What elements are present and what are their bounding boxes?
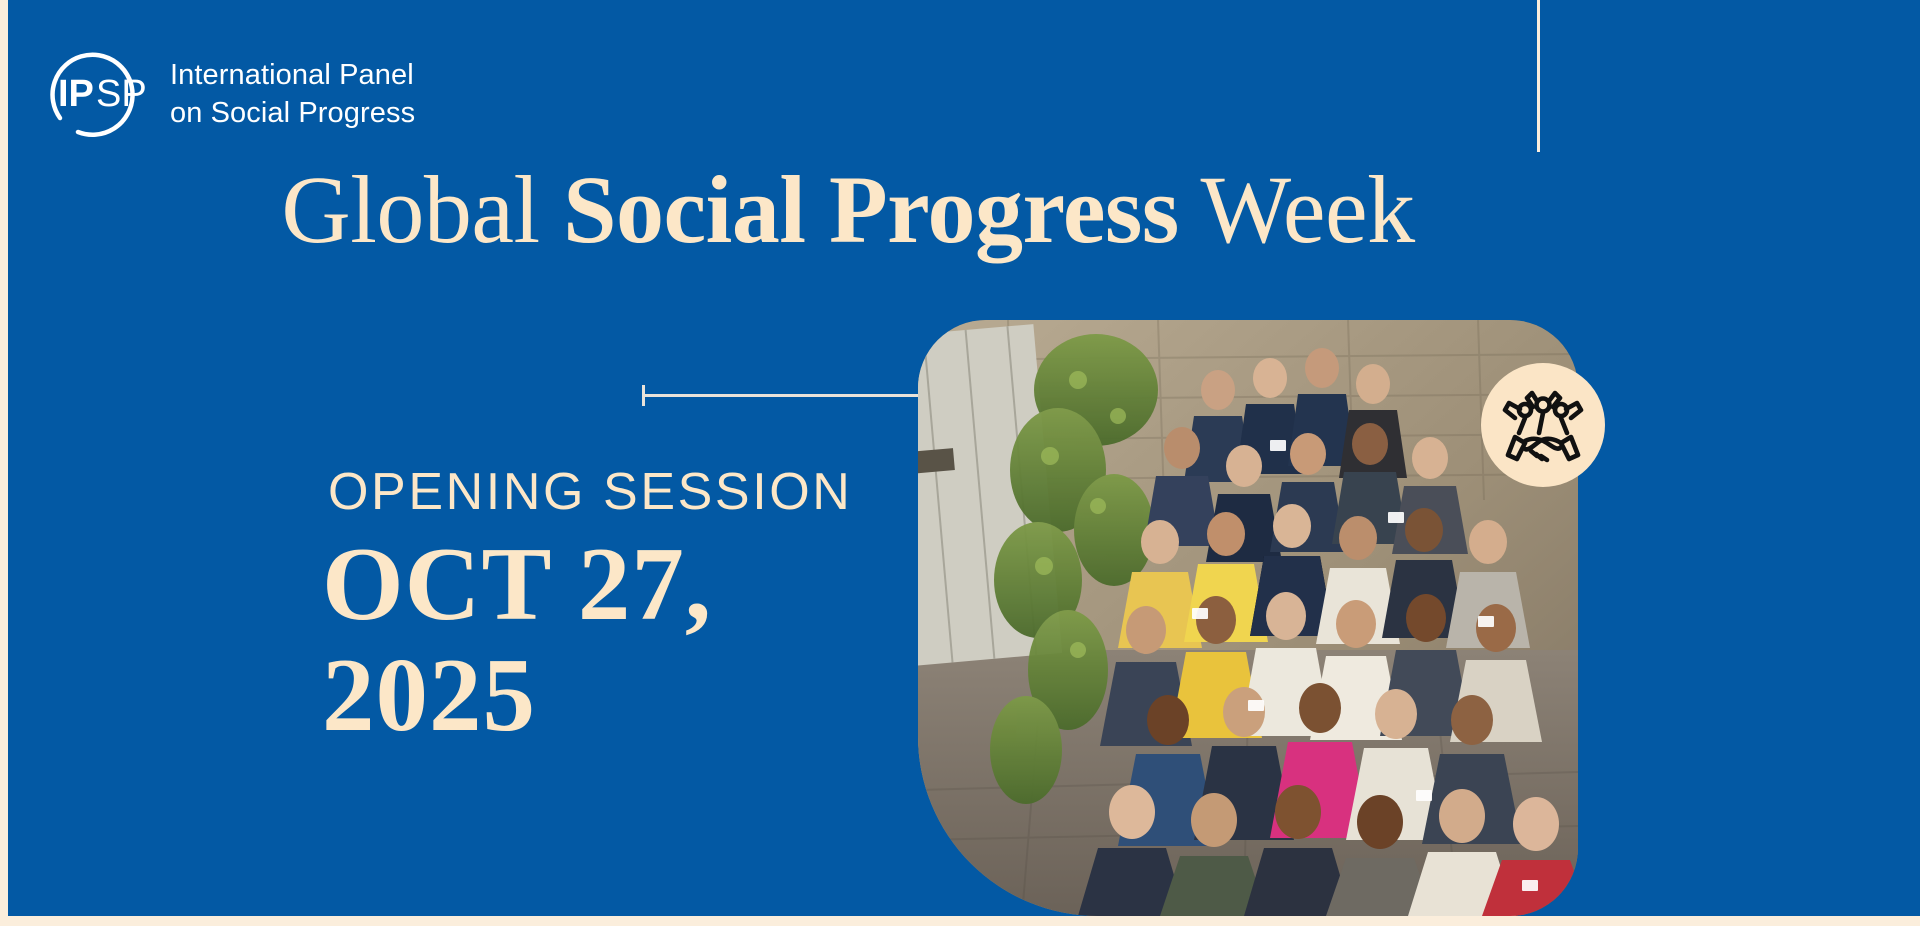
handshake-people-icon bbox=[1481, 363, 1605, 487]
event-date-line-1: OCT 27, bbox=[322, 528, 882, 639]
svg-text:IP: IP bbox=[58, 73, 94, 115]
ipsp-logo-lockup[interactable]: IP SP International Panel on Social Prog… bbox=[44, 42, 415, 146]
event-date: OCT 27, 2025 bbox=[322, 528, 882, 751]
organization-name: International Panel on Social Progress bbox=[170, 56, 415, 133]
title-part-2: Social Progress bbox=[563, 156, 1179, 263]
connector-rule bbox=[642, 394, 932, 397]
title-part-1: Global bbox=[281, 156, 563, 263]
ipsp-ring-logo-icon: IP SP bbox=[44, 42, 148, 146]
svg-text:SP: SP bbox=[96, 73, 147, 115]
title-part-3: Week bbox=[1179, 156, 1415, 263]
event-banner: IP SP International Panel on Social Prog… bbox=[8, 0, 1920, 916]
page-title: Global Social Progress Week bbox=[8, 158, 1688, 262]
event-date-line-2: 2025 bbox=[322, 639, 882, 750]
vertical-divider bbox=[1537, 0, 1540, 152]
session-label: OPENING SESSION bbox=[328, 462, 852, 522]
group-photo bbox=[918, 320, 1578, 916]
